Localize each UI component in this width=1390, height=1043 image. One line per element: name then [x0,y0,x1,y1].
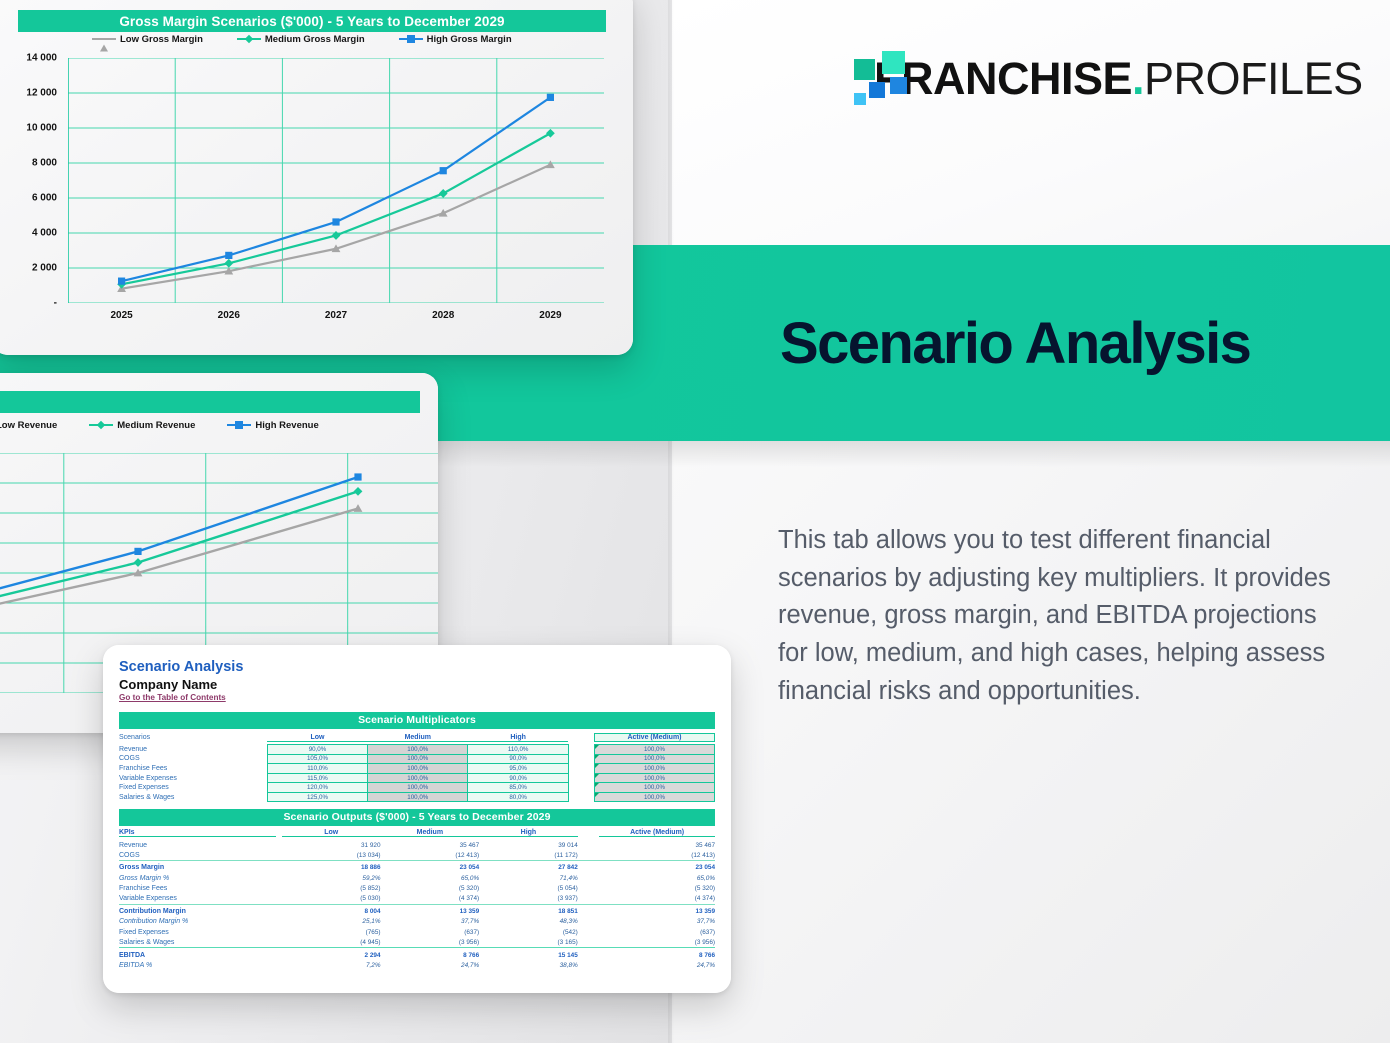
output-label: Contribution Margin % [119,917,276,927]
y-axis-tick-label: 4 000 [32,228,57,239]
output-medium-cell: 37,7% [381,917,480,927]
output-active-cell: (4 374) [599,894,715,904]
multiplicator-row: Franchise Fees110,0%100,0%95,0%100,0% [119,764,715,774]
legend-label: Medium Revenue [117,420,195,431]
square-blue-light-icon [854,93,866,105]
multiplicator-row: Variable Expenses115,0%100,0%90,0%100,0% [119,773,715,783]
output-active-cell: (12 413) [599,850,715,860]
output-row: Gross Margin %59,2%65,0%71,4%65,0% [119,873,715,883]
y-axis-tick-label: 8 000 [32,158,57,169]
multiplicator-high-cell[interactable]: 80,0% [468,792,568,802]
output-row: Variable Expenses(5 030)(4 374)(3 937)(4… [119,894,715,904]
column-header-low: Low [282,829,381,837]
scenario-multiplicators-band: Scenario Multiplicators [119,712,715,729]
output-row: Fixed Expenses(765)(637)(542)(637) [119,927,715,937]
output-medium-cell: 65,0% [381,873,480,883]
output-label: Salaries & Wages [119,938,276,948]
output-row: Salaries & Wages(4 945)(3 956)(3 165)(3 … [119,938,715,948]
multiplicator-high-cell[interactable]: 110,0% [468,744,568,754]
output-row: EBITDA %7,2%24,7%38,8%24,7% [119,960,715,970]
legend-swatch-medium [89,424,113,426]
output-medium-cell: 35 467 [381,840,480,850]
multiplicator-medium-cell[interactable]: 100,0% [368,773,468,783]
multiplicator-label: COGS [119,754,261,764]
multiplicator-low-cell[interactable]: 110,0% [267,764,367,774]
output-row: Revenue31 92035 46739 01435 467 [119,840,715,850]
multiplicator-row: COGS105,0%100,0%90,0%100,0% [119,754,715,764]
output-high-cell: 38,8% [479,960,578,970]
output-low-cell: 7,2% [282,960,381,970]
multiplicator-row: Fixed Expenses120,0%100,0%85,0%100,0% [119,783,715,793]
output-active-cell: (637) [599,927,715,937]
legend-swatch-low [92,38,116,40]
output-active-cell: 37,7% [599,917,715,927]
square-blue-dark-icon [869,82,885,98]
legend-item-high-revenue: High Revenue [227,420,318,431]
scenario-outputs-band: Scenario Outputs ($'000) - 5 Years to De… [119,809,715,826]
scenario-outputs-table: KPIs Low Medium High Active (Medium) Rev… [119,829,715,970]
legend-item-low-gross-margin: Low Gross Margin [92,34,203,45]
output-high-cell: (3 937) [479,894,578,904]
scenario-analysis-sheet: Scenario Analysis Company Name Go to the… [103,645,731,993]
output-active-cell: (3 956) [599,938,715,948]
legend-swatch-high [399,38,423,40]
sheet-subtitle: Company Name [119,677,715,693]
multiplicator-low-cell[interactable]: 105,0% [267,754,367,764]
output-medium-cell: (4 374) [381,894,480,904]
scenario-multiplicators-table: Scenarios Low Medium High Active (Medium… [119,733,715,803]
logo-word-light: PROFILES [1144,53,1363,104]
output-medium-cell: (3 956) [381,938,480,948]
multiplicator-medium-cell[interactable]: 100,0% [368,764,468,774]
multiplicator-low-cell[interactable]: 125,0% [267,792,367,802]
brand-logo: FRANCHISE.PROFILES [852,48,1352,110]
gross-margin-chart-card: Gross Margin Scenarios ($'000) - 5 Years… [0,0,633,355]
output-row: Contribution Margin %25,1%37,7%48,3%37,7… [119,917,715,927]
multiplicator-low-cell[interactable]: 120,0% [267,783,367,793]
x-axis-tick-label: 2027 [325,310,347,321]
column-header-medium: Medium [381,829,480,837]
output-label: Variable Expenses [119,894,276,904]
multiplicator-medium-cell[interactable]: 100,0% [368,744,468,754]
square-teal-large-icon [882,51,905,74]
legend-label: High Gross Margin [427,34,512,45]
output-medium-cell: (637) [381,927,480,937]
scenarios-header: Scenarios [119,733,261,741]
legend-label: Low Revenue [0,420,57,431]
legend-item-high-gross-margin: High Gross Margin [399,34,512,45]
output-active-cell: 23 054 [599,863,715,873]
multiplicator-label: Fixed Expenses [119,783,261,793]
output-label: Contribution Margin [119,906,276,916]
output-medium-cell: 8 766 [381,950,480,960]
multiplicator-label: Revenue [119,744,261,754]
legend-swatch-medium [237,38,261,40]
revenue-chart-title: ue Scenarios ($'000) - 5 Years to Decemb… [0,391,420,413]
output-high-cell: (3 165) [479,938,578,948]
output-row: Franchise Fees(5 852)(5 320)(5 054)(5 32… [119,884,715,894]
output-low-cell: (5 852) [282,884,381,894]
legend-label: Medium Gross Margin [265,34,365,45]
output-active-cell: 35 467 [599,840,715,850]
revenue-chart-legend: Low Revenue Medium Revenue High Revenue [0,414,319,436]
multiplicator-active-cell[interactable]: 100,0% [594,744,714,754]
multiplicator-label: Franchise Fees [119,764,261,774]
x-axis-tick-label: 2028 [432,310,454,321]
multiplicator-active-cell[interactable]: 100,0% [594,783,714,793]
multiplicator-medium-cell[interactable]: 100,0% [368,792,468,802]
output-low-cell: 18 886 [282,863,381,873]
multiplicator-low-cell[interactable]: 115,0% [267,773,367,783]
output-low-cell: (765) [282,927,381,937]
multiplicator-high-cell[interactable]: 95,0% [468,764,568,774]
output-high-cell: 15 145 [479,950,578,960]
square-marker-icon [235,421,243,429]
outputs-header-row: KPIs Low Medium High Active (Medium) [119,829,715,837]
square-blue-mid-icon [890,77,907,94]
output-low-cell: (5 030) [282,894,381,904]
output-label: Fixed Expenses [119,927,276,937]
multiplicator-high-cell[interactable]: 90,0% [468,754,568,764]
square-marker-icon [407,35,415,43]
gross-margin-x-axis: 20252026202720282029 [68,310,604,328]
output-label: EBITDA [119,950,276,960]
output-low-cell: 2 294 [282,950,381,960]
multiplicator-active-cell[interactable]: 100,0% [594,754,714,764]
output-high-cell: 39 014 [479,840,578,850]
logo-word-strong: FRANCHISE [874,53,1132,104]
output-active-cell: 65,0% [599,873,715,883]
diamond-marker-icon [97,421,105,429]
output-medium-cell: 13 359 [381,906,480,916]
y-axis-tick-label: 10 000 [26,123,57,134]
output-medium-cell: (12 413) [381,850,480,860]
page-title: Scenario Analysis [780,310,1250,377]
y-axis-tick-label: - [54,298,57,309]
table-of-contents-link[interactable]: Go to the Table of Contents [119,693,715,704]
column-header-active: Active (Medium) [599,829,715,837]
output-medium-cell: 24,7% [381,960,480,970]
background-panel-top-right [672,0,1390,246]
legend-label: Low Gross Margin [120,34,203,45]
output-high-cell: 18 851 [479,906,578,916]
output-low-cell: 8 004 [282,906,381,916]
output-active-cell: 13 359 [599,906,715,916]
logo-wordmark: FRANCHISE.PROFILES [874,53,1363,105]
output-high-cell: 48,3% [479,917,578,927]
column-header-high: High [468,733,568,741]
output-medium-cell: (5 320) [381,884,480,894]
gross-margin-plot-area [68,58,604,303]
legend-swatch-high [227,424,251,426]
y-axis-tick-label: 14 000 [26,53,57,64]
multiplicator-row: Salaries & Wages125,0%100,0%80,0%100,0% [119,792,715,802]
output-label: Gross Margin % [119,873,276,883]
logo-dot: . [1132,53,1144,104]
column-header-medium: Medium [368,733,468,741]
x-axis-tick-label: 2026 [218,310,240,321]
multiplicator-active-cell[interactable]: 100,0% [594,792,714,802]
triangle-marker-icon [100,34,108,45]
output-low-cell: (4 945) [282,938,381,948]
output-label: COGS [119,850,276,860]
multiplicator-low-cell[interactable]: 90,0% [267,744,367,754]
column-header-low: Low [267,733,367,741]
output-label: Gross Margin [119,863,276,873]
output-high-cell: (11 172) [479,850,578,860]
square-teal-dark-icon [854,59,875,80]
multiplicator-high-cell[interactable]: 90,0% [468,773,568,783]
kpis-header: KPIs [119,829,276,837]
gross-margin-chart-surface: Gross Margin Scenarios ($'000) - 5 Years… [0,0,633,355]
legend-item-low-revenue: Low Revenue [0,420,57,431]
multiplicator-active-cell[interactable]: 100,0% [594,764,714,774]
outputs-rows: Revenue31 92035 46739 01435 467COGS(13 0… [119,840,715,971]
output-active-cell: 8 766 [599,950,715,960]
y-axis-tick-label: 6 000 [32,193,57,204]
multiplicator-medium-cell[interactable]: 100,0% [368,754,468,764]
multiplicator-row: Revenue90,0%100,0%110,0%100,0% [119,744,715,754]
output-row: Gross Margin18 88623 05427 84223 054 [119,863,715,873]
output-high-cell: 27 842 [479,863,578,873]
output-high-cell: 71,4% [479,873,578,883]
column-header-high: High [479,829,578,837]
output-low-cell: 31 920 [282,840,381,850]
sheet-title: Scenario Analysis [119,659,715,676]
x-axis-tick-label: 2029 [539,310,561,321]
output-label: EBITDA % [119,960,276,970]
output-high-cell: (5 054) [479,884,578,894]
output-active-cell: 24,7% [599,960,715,970]
legend-item-medium-gross-margin: Medium Gross Margin [237,34,365,45]
column-header-active: Active (Medium) [594,733,714,741]
page-description: This tab allows you to test different fi… [778,522,1338,711]
gross-margin-y-axis: -2 0004 0006 0008 00010 00012 00014 000 [2,58,57,303]
output-low-cell: 59,2% [282,873,381,883]
legend-item-medium-revenue: Medium Revenue [89,420,195,431]
multiplicator-medium-cell[interactable]: 100,0% [368,783,468,793]
output-row: EBITDA2 2948 76615 1458 766 [119,950,715,960]
output-label: Franchise Fees [119,884,276,894]
x-axis-tick-label: 2025 [110,310,132,321]
output-low-cell: (13 034) [282,850,381,860]
gross-margin-chart-legend: Low Gross Margin Medium Gross Margin Hig… [92,28,512,50]
output-low-cell: 25,1% [282,917,381,927]
y-axis-tick-label: 2 000 [32,263,57,274]
scenario-analysis-sheet-card: Scenario Analysis Company Name Go to the… [103,645,731,993]
legend-label: High Revenue [255,420,318,431]
multiplicators-header-row: Scenarios Low Medium High Active (Medium… [119,733,715,741]
multiplicator-high-cell[interactable]: 85,0% [468,783,568,793]
y-axis-tick-label: 12 000 [26,88,57,99]
output-row: Contribution Margin8 00413 35918 85113 3… [119,906,715,916]
output-row: COGS(13 034)(12 413)(11 172)(12 413) [119,850,715,860]
diamond-marker-icon [245,35,253,43]
output-active-cell: (5 320) [599,884,715,894]
multiplicator-label: Salaries & Wages [119,792,261,802]
output-high-cell: (542) [479,927,578,937]
output-medium-cell: 23 054 [381,863,480,873]
multiplicators-rows: Revenue90,0%100,0%110,0%100,0%COGS105,0%… [119,744,715,802]
multiplicator-label: Variable Expenses [119,773,261,783]
output-label: Revenue [119,840,276,850]
multiplicator-active-cell[interactable]: 100,0% [594,773,714,783]
